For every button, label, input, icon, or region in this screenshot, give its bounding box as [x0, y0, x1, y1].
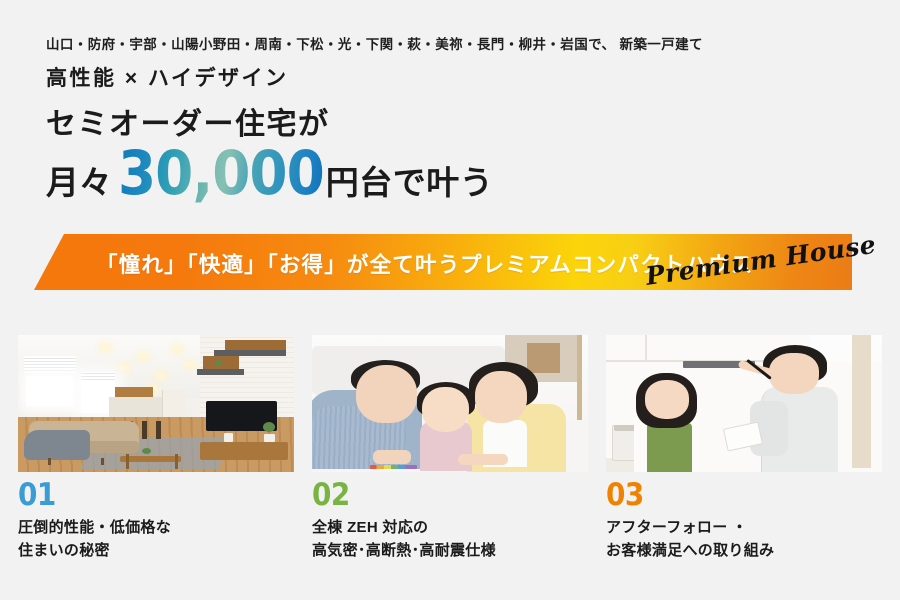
card-text-03: アフターフォロー ・ お客様満足への取り組み [606, 517, 882, 563]
price-headline: 月々 30,000 円台で叶う [46, 143, 493, 204]
card-text-03-line2: お客様満足への取り組み [606, 540, 882, 563]
catch-headline: セミオーダー住宅が [46, 99, 330, 143]
catch-subheading: 高性能 × ハイデザイン [46, 62, 289, 92]
card-text-02-line2: 高気密･高断熱･高耐震仕様 [312, 540, 588, 563]
card-text-02: 全棟 ZEH 対応の 高気密･高断熱･高耐震仕様 [312, 517, 588, 563]
living-room-interior-photo [18, 335, 294, 472]
promo-banner: 山口・防府・宇部・山陽小野田・周南・下松・光・下関・萩・美祢・長門・柳井・岩国で… [0, 0, 900, 600]
price-amount: 30,000 [118, 143, 324, 204]
card-text-03-line1: アフターフォロー ・ [606, 517, 882, 540]
feature-card-01[interactable]: 01 圧倒的性能・低価格な 住まいの秘密 [18, 335, 294, 563]
card-text-01-line1: 圧倒的性能・低価格な [18, 517, 294, 540]
card-text-01-line2: 住まいの秘密 [18, 540, 294, 563]
card-text-02-line1: 全棟 ZEH 対応の [312, 517, 588, 540]
after-service-visit-photo [606, 335, 882, 472]
service-area-line: 山口・防府・宇部・山陽小野田・周南・下松・光・下関・萩・美祢・長門・柳井・岩国で… [46, 33, 703, 53]
price-suffix: 円台で叶う [326, 166, 494, 204]
card-text-01: 圧倒的性能・低価格な 住まいの秘密 [18, 517, 294, 563]
card-number-03: 03 [606, 480, 882, 511]
feature-card-03[interactable]: 03 アフターフォロー ・ お客様満足への取り組み [606, 335, 882, 563]
feature-card-list: 01 圧倒的性能・低価格な 住まいの秘密 [18, 335, 882, 563]
price-prefix: 月々 [46, 166, 112, 204]
card-number-02: 02 [312, 480, 588, 511]
card-number-01: 01 [18, 480, 294, 511]
family-on-floor-photo [312, 335, 588, 472]
feature-card-02[interactable]: 02 全棟 ZEH 対応の 高気密･高断熱･高耐震仕様 [312, 335, 588, 563]
